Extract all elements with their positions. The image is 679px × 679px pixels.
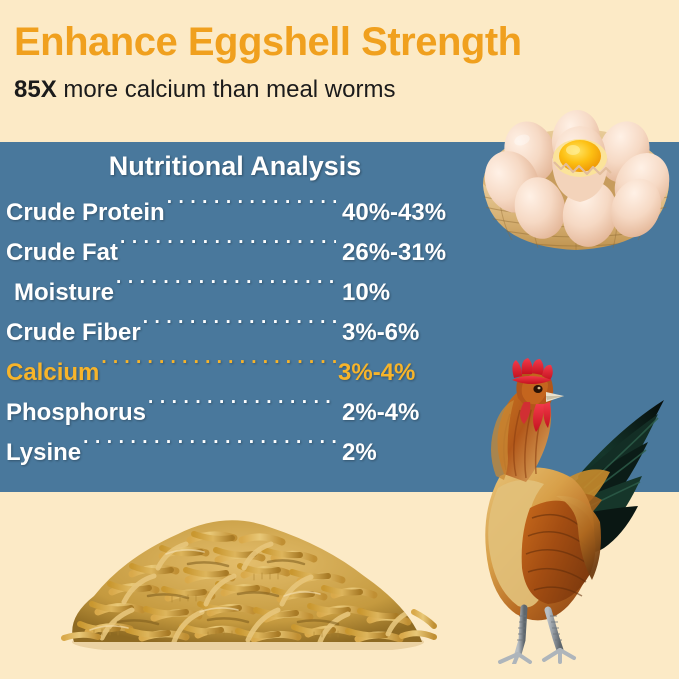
table-row: Crude Fat ······························… xyxy=(0,236,470,276)
leader-dots: ········································… xyxy=(167,196,336,220)
nutrient-label: Crude Protein xyxy=(0,199,165,227)
calcium-multiplier-badge: 85X xyxy=(14,76,57,103)
rooster-image xyxy=(452,358,670,664)
page-title: Enhance Eggshell Strength xyxy=(14,22,522,62)
nutrient-value: 2%-4% xyxy=(338,399,470,427)
table-row-calcium-highlighted: Calcium ································… xyxy=(0,356,470,396)
nutrient-label: Lysine xyxy=(0,439,81,467)
nutrient-label: Calcium xyxy=(0,359,99,387)
nutrient-label: Phosphorus xyxy=(0,399,146,427)
nutrient-label: Crude Fat xyxy=(0,239,118,267)
nutrient-value: 3%-6% xyxy=(338,319,470,347)
leader-dots: ········································… xyxy=(101,356,336,380)
nutrient-value: 10% xyxy=(338,279,470,307)
table-row: Crude Fiber ····························… xyxy=(0,316,470,356)
leader-dots: ········································… xyxy=(148,396,336,420)
egg-basket-image xyxy=(478,100,674,252)
leader-dots: ········································… xyxy=(116,276,336,300)
mealworms-pile-image xyxy=(58,492,438,650)
table-row: Moisture ·······························… xyxy=(0,276,470,316)
nutrient-value: 26%-31% xyxy=(338,239,470,267)
table-row: Crude Protein ··························… xyxy=(0,196,470,236)
leader-dots: ········································… xyxy=(143,316,336,340)
nutrient-label: Moisture xyxy=(0,279,114,307)
nutrient-value: 3%-4% xyxy=(338,359,470,387)
comb xyxy=(512,358,553,384)
leader-dots: ········································… xyxy=(120,236,336,260)
table-row: Phosphorus ·····························… xyxy=(0,396,470,436)
nutrition-table: Crude Protein ··························… xyxy=(0,196,470,476)
table-row: Lysine ·································… xyxy=(0,436,470,476)
nutrient-value: 40%-43% xyxy=(338,199,470,227)
subtitle-text: more calcium than meal worms xyxy=(57,76,396,103)
nutrition-panel-title: Nutritional Analysis xyxy=(0,151,470,182)
nutrient-value: 2% xyxy=(338,439,470,467)
product-infographic: Enhance Eggshell Strength 85X more calci… xyxy=(0,0,679,679)
leader-dots: ········································… xyxy=(83,436,336,460)
subtitle: 85X more calcium than meal worms xyxy=(14,78,395,102)
nutrient-label: Crude Fiber xyxy=(0,319,141,347)
